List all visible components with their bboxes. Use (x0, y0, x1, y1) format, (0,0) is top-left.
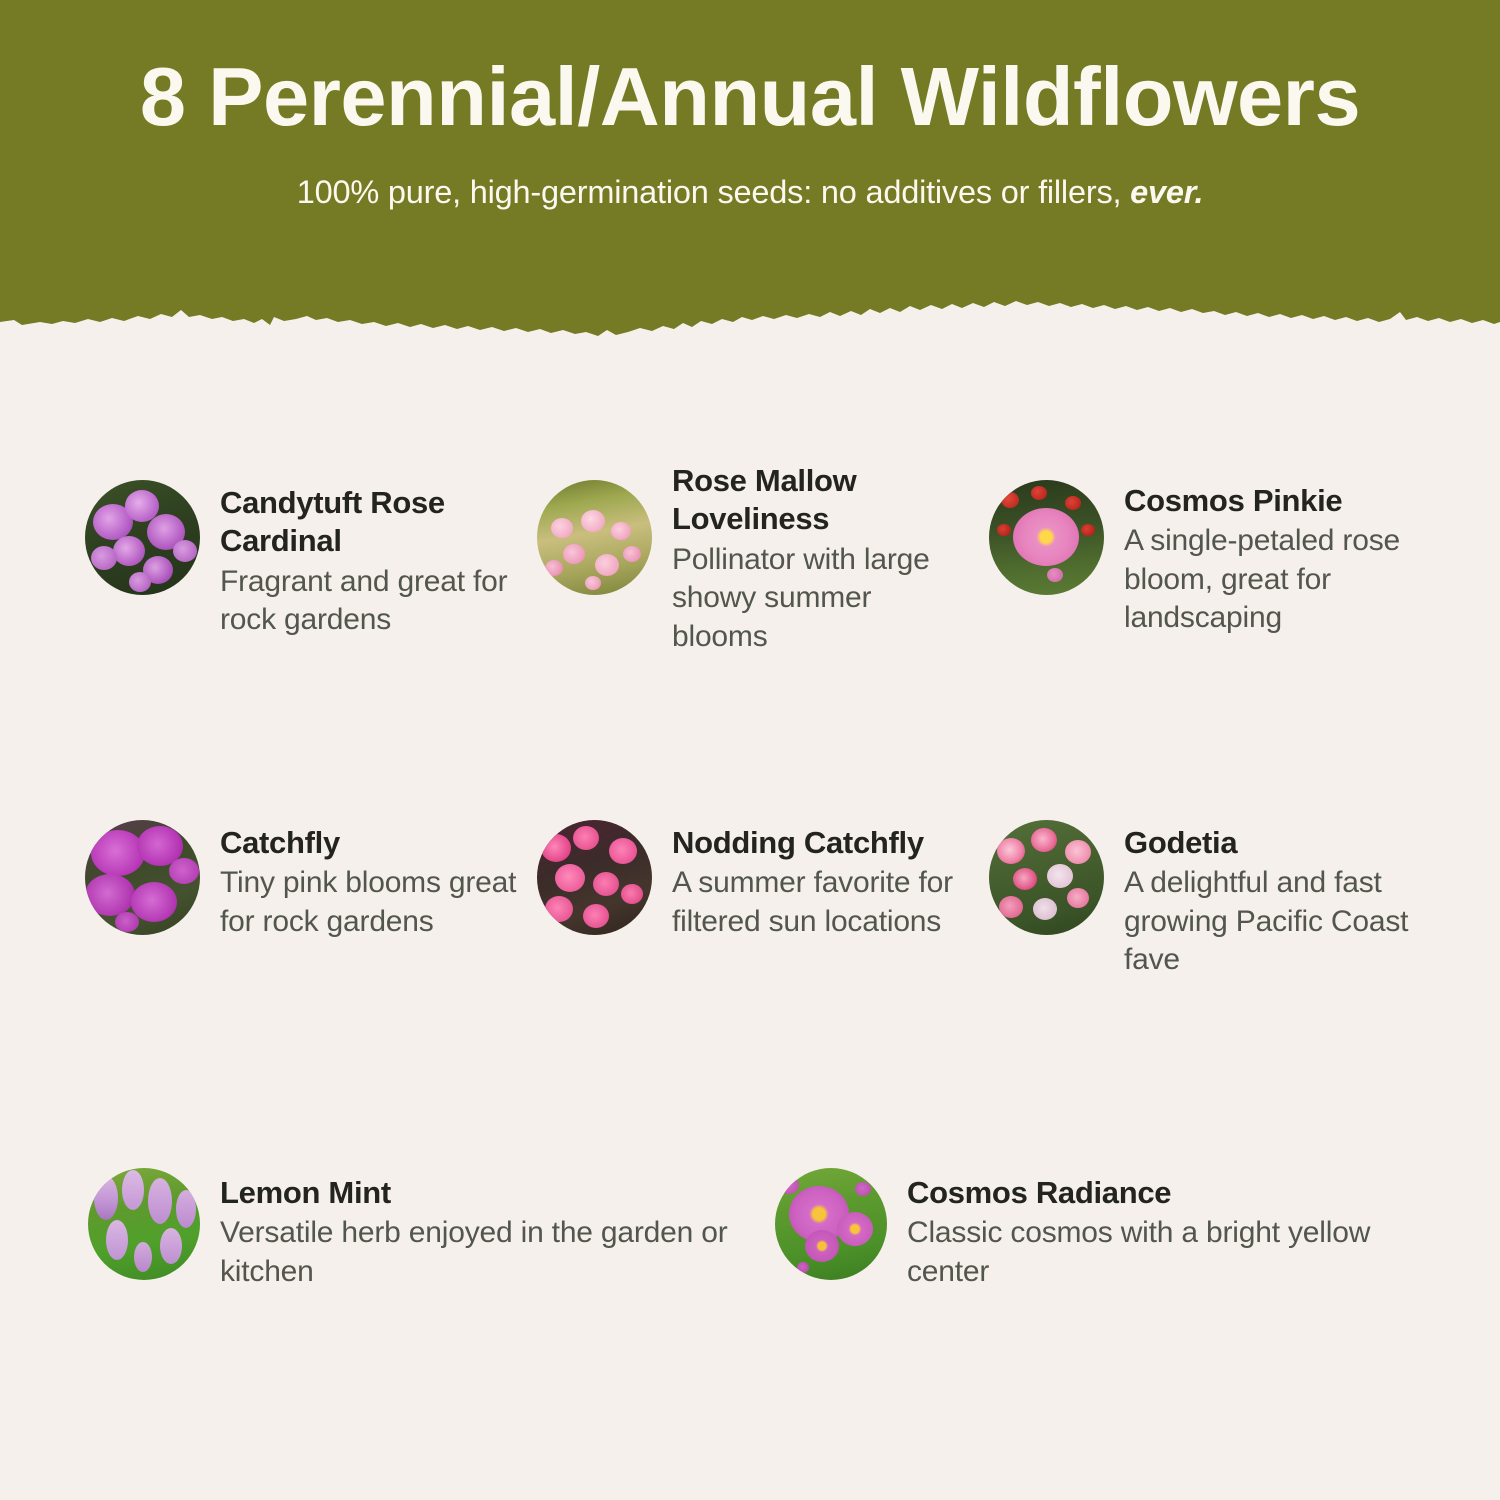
subtitle-main-text: 100% pure, high-germination seeds: no ad… (297, 174, 1130, 210)
flower-card-godetia[interactable]: Godetia A delightful and fast growing Pa… (989, 820, 1449, 980)
flower-name: Nodding Catchfly (672, 824, 972, 862)
flower-description: A single-petaled rose bloom, great for l… (1124, 522, 1424, 637)
flower-card-candytuft-rose-cardinal[interactable]: Candytuft Rose Cardinal Fragrant and gre… (85, 480, 545, 656)
flower-description: Tiny pink blooms great for rock gardens (220, 864, 520, 941)
page-title: 8 Perennial/Annual Wildflowers (0, 56, 1500, 138)
flower-description: Pollinator with large showy summer bloom… (672, 541, 972, 656)
flower-description: Classic cosmos with a bright yellow cent… (907, 1214, 1447, 1291)
godetia-photo (989, 820, 1104, 935)
flower-name: Catchfly (220, 824, 520, 862)
flower-card-cosmos-radiance[interactable]: Cosmos Radiance Classic cosmos with a br… (775, 1168, 1465, 1291)
flower-description: A delightful and fast growing Pacific Co… (1124, 864, 1424, 979)
catchfly-photo (85, 820, 200, 935)
candytuft-rose-cardinal-photo (85, 480, 200, 595)
cosmos-radiance-photo (775, 1168, 887, 1280)
flower-row-2: Catchfly Tiny pink blooms great for rock… (0, 820, 1500, 980)
flower-description: Versatile herb enjoyed in the garden or … (220, 1214, 760, 1291)
flower-row-3: Lemon Mint Versatile herb enjoyed in the… (0, 1168, 1500, 1291)
cosmos-pinkie-photo (989, 480, 1104, 595)
flower-name: Godetia (1124, 824, 1424, 862)
torn-paper-edge-icon (0, 292, 1500, 348)
flower-name: Cosmos Radiance (907, 1174, 1447, 1212)
flower-row-1: Candytuft Rose Cardinal Fragrant and gre… (0, 480, 1500, 656)
flower-name: Candytuft Rose Cardinal (220, 484, 520, 561)
flower-name: Lemon Mint (220, 1174, 760, 1212)
flower-card-nodding-catchfly[interactable]: Nodding Catchfly A summer favorite for f… (537, 820, 997, 980)
flower-card-lemon-mint[interactable]: Lemon Mint Versatile herb enjoyed in the… (88, 1168, 778, 1291)
lemon-mint-photo (88, 1168, 200, 1280)
flower-card-catchfly[interactable]: Catchfly Tiny pink blooms great for rock… (85, 820, 545, 980)
flower-name: Cosmos Pinkie (1124, 482, 1424, 520)
rose-mallow-loveliness-photo (537, 480, 652, 595)
header-banner: 8 Perennial/Annual Wildflowers 100% pure… (0, 0, 1500, 348)
nodding-catchfly-photo (537, 820, 652, 935)
flower-name: Rose Mallow Loveliness (672, 462, 972, 539)
subtitle-emphasis-text: ever. (1130, 174, 1203, 210)
page-subtitle: 100% pure, high-germination seeds: no ad… (0, 174, 1500, 211)
flower-description: Fragrant and great for rock gardens (220, 563, 520, 640)
flower-card-cosmos-pinkie[interactable]: Cosmos Pinkie A single-petaled rose bloo… (989, 480, 1449, 656)
flower-card-rose-mallow-loveliness[interactable]: Rose Mallow Loveliness Pollinator with l… (537, 480, 997, 656)
flower-description: A summer favorite for filtered sun locat… (672, 864, 972, 941)
